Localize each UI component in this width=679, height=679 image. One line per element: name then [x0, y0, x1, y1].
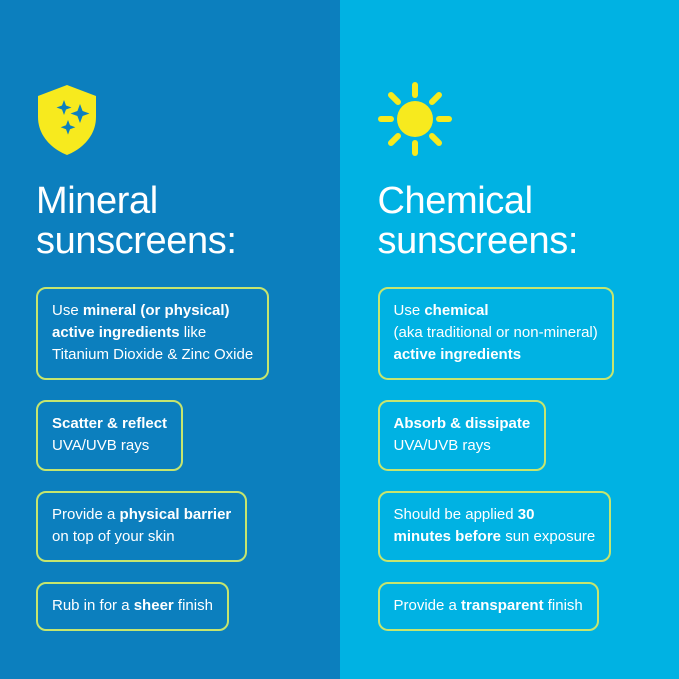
- fact-text-emphasis: transparent: [461, 597, 544, 614]
- fact-line: on top of your skin: [52, 526, 231, 548]
- fact-absorb-dissipate: Absorb & dissipateUVA/UVB rays: [378, 400, 547, 471]
- fact-text: finish: [544, 597, 583, 614]
- fact-text: Titanium Dioxide & Zinc Oxide: [52, 346, 253, 363]
- fact-line: Use chemical: [394, 300, 598, 322]
- fact-line: Titanium Dioxide & Zinc Oxide: [52, 344, 253, 366]
- sunscreen-comparison-infographic: Mineral sunscreens: Use mineral (or phys…: [0, 0, 679, 679]
- fact-apply-30-minutes: Should be applied 30minutes before sun e…: [378, 491, 612, 562]
- fact-line: active ingredients: [394, 344, 598, 366]
- fact-text-emphasis: active ingredients: [394, 346, 522, 363]
- fact-text: UVA/UVB rays: [394, 437, 491, 454]
- fact-text-emphasis: sheer: [134, 597, 174, 614]
- sun-icon: [378, 84, 679, 156]
- fact-line: Provide a transparent finish: [394, 595, 583, 617]
- fact-line: Rub in for a sheer finish: [52, 595, 213, 617]
- fact-physical-barrier: Provide a physical barrieron top of your…: [36, 491, 247, 562]
- panel-mineral: Mineral sunscreens: Use mineral (or phys…: [0, 0, 340, 679]
- fact-line: Absorb & dissipate: [394, 413, 531, 435]
- fact-text: Provide a: [52, 506, 120, 523]
- shield-sparkle-icon: [36, 84, 340, 156]
- fact-text-emphasis: mineral (or physical): [83, 302, 230, 319]
- fact-list: Use chemical(aka traditional or non-mine…: [378, 287, 679, 631]
- fact-text-emphasis: Absorb & dissipate: [394, 415, 531, 432]
- fact-text-emphasis: minutes before: [394, 528, 502, 545]
- fact-list: Use mineral (or physical)active ingredie…: [36, 287, 340, 631]
- fact-text-emphasis: active ingredients: [52, 324, 180, 341]
- fact-line: minutes before sun exposure: [394, 526, 596, 548]
- fact-text: Use: [394, 302, 425, 319]
- fact-text-emphasis: Scatter & reflect: [52, 415, 167, 432]
- fact-line: active ingredients like: [52, 322, 253, 344]
- fact-line: UVA/UVB rays: [394, 435, 531, 457]
- panel-chemical: Chemical sunscreens: Use chemical(aka tr…: [340, 0, 679, 679]
- fact-line: (aka traditional or non-mineral): [394, 322, 598, 344]
- fact-line: Scatter & reflect: [52, 413, 167, 435]
- fact-line: Use mineral (or physical): [52, 300, 253, 322]
- fact-text-emphasis: physical barrier: [120, 506, 232, 523]
- fact-text: Use: [52, 302, 83, 319]
- panel-heading: Mineral sunscreens:: [36, 182, 340, 261]
- fact-text: Rub in for a: [52, 597, 134, 614]
- fact-line: UVA/UVB rays: [52, 435, 167, 457]
- fact-text: on top of your skin: [52, 528, 175, 545]
- fact-active-ingredients: Use chemical(aka traditional or non-mine…: [378, 287, 614, 380]
- fact-sheer-finish: Rub in for a sheer finish: [36, 582, 229, 631]
- fact-text: (aka traditional or non-mineral): [394, 324, 598, 341]
- fact-text: UVA/UVB rays: [52, 437, 149, 454]
- fact-text-emphasis: 30: [518, 506, 535, 523]
- panel-heading: Chemical sunscreens:: [378, 182, 679, 261]
- fact-text: sun exposure: [501, 528, 595, 545]
- fact-text: like: [180, 324, 207, 341]
- fact-text-emphasis: chemical: [424, 302, 488, 319]
- fact-text: Should be applied: [394, 506, 518, 523]
- fact-active-ingredients: Use mineral (or physical)active ingredie…: [36, 287, 269, 380]
- fact-transparent-finish: Provide a transparent finish: [378, 582, 599, 631]
- fact-line: Should be applied 30: [394, 504, 596, 526]
- fact-text: finish: [174, 597, 213, 614]
- fact-line: Provide a physical barrier: [52, 504, 231, 526]
- fact-scatter-reflect: Scatter & reflectUVA/UVB rays: [36, 400, 183, 471]
- fact-text: Provide a: [394, 597, 462, 614]
